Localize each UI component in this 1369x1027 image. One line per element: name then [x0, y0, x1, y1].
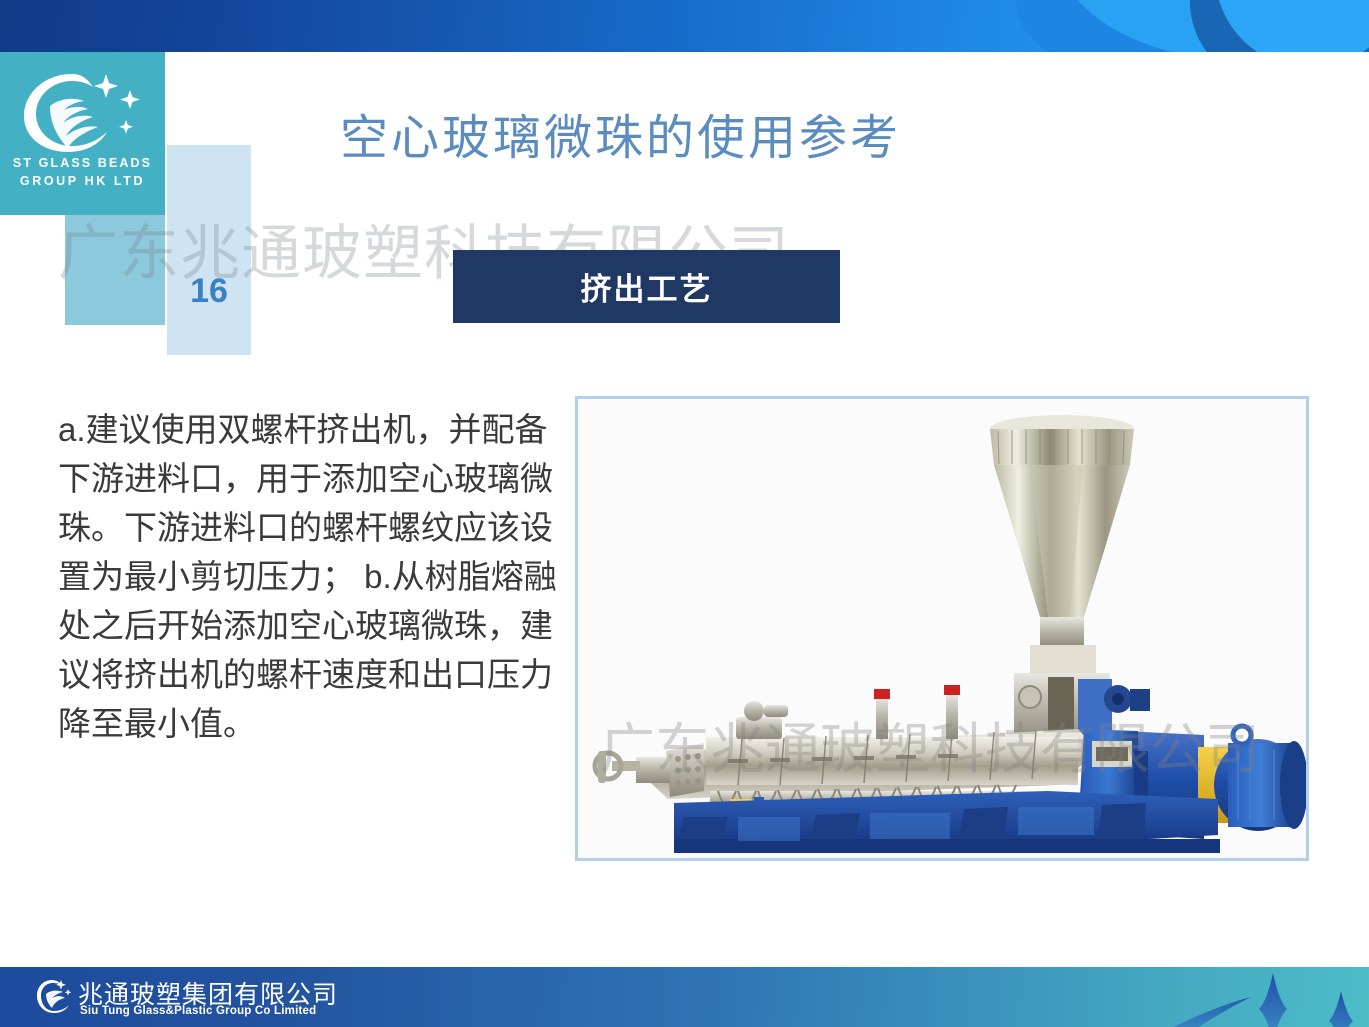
crescent-sparkle-logo-icon: [14, 68, 152, 156]
top-banner: [0, 0, 1369, 52]
page-number: 16: [167, 272, 251, 311]
twin-screw-extruder-machine-photo: [578, 399, 1306, 858]
extruder-photo-frame: 广东兆通玻塑科技有限公司: [575, 396, 1309, 861]
page-title: 空心玻璃微珠的使用参考: [340, 98, 1040, 168]
crescent-sparkle-logo-icon: [34, 977, 74, 1017]
footer-bar: 兆通玻塑集团有限公司 Siu Tung Glass&Plastic Group …: [0, 967, 1369, 1027]
footer-company-name-en: Siu Tung Glass&Plastic Group Co Limited: [80, 1005, 316, 1017]
four-point-star-icon: [1069, 967, 1369, 1027]
section-banner: 挤出工艺: [453, 250, 840, 323]
logo-text-line2: GROUP HK LTD: [0, 174, 165, 188]
photo-watermark-text: 广东兆通玻塑科技有限公司: [600, 704, 1260, 784]
company-logo-block: ST GLASS BEADS GROUP HK LTD: [0, 52, 165, 215]
logo-text-line1: ST GLASS BEADS: [0, 156, 165, 170]
section-banner-label: 挤出工艺: [581, 264, 713, 309]
body-paragraph: a.建议使用双螺杆挤出机，并配备下游进料口，用于添加空心玻璃微珠。下游进料口的螺…: [58, 405, 558, 748]
